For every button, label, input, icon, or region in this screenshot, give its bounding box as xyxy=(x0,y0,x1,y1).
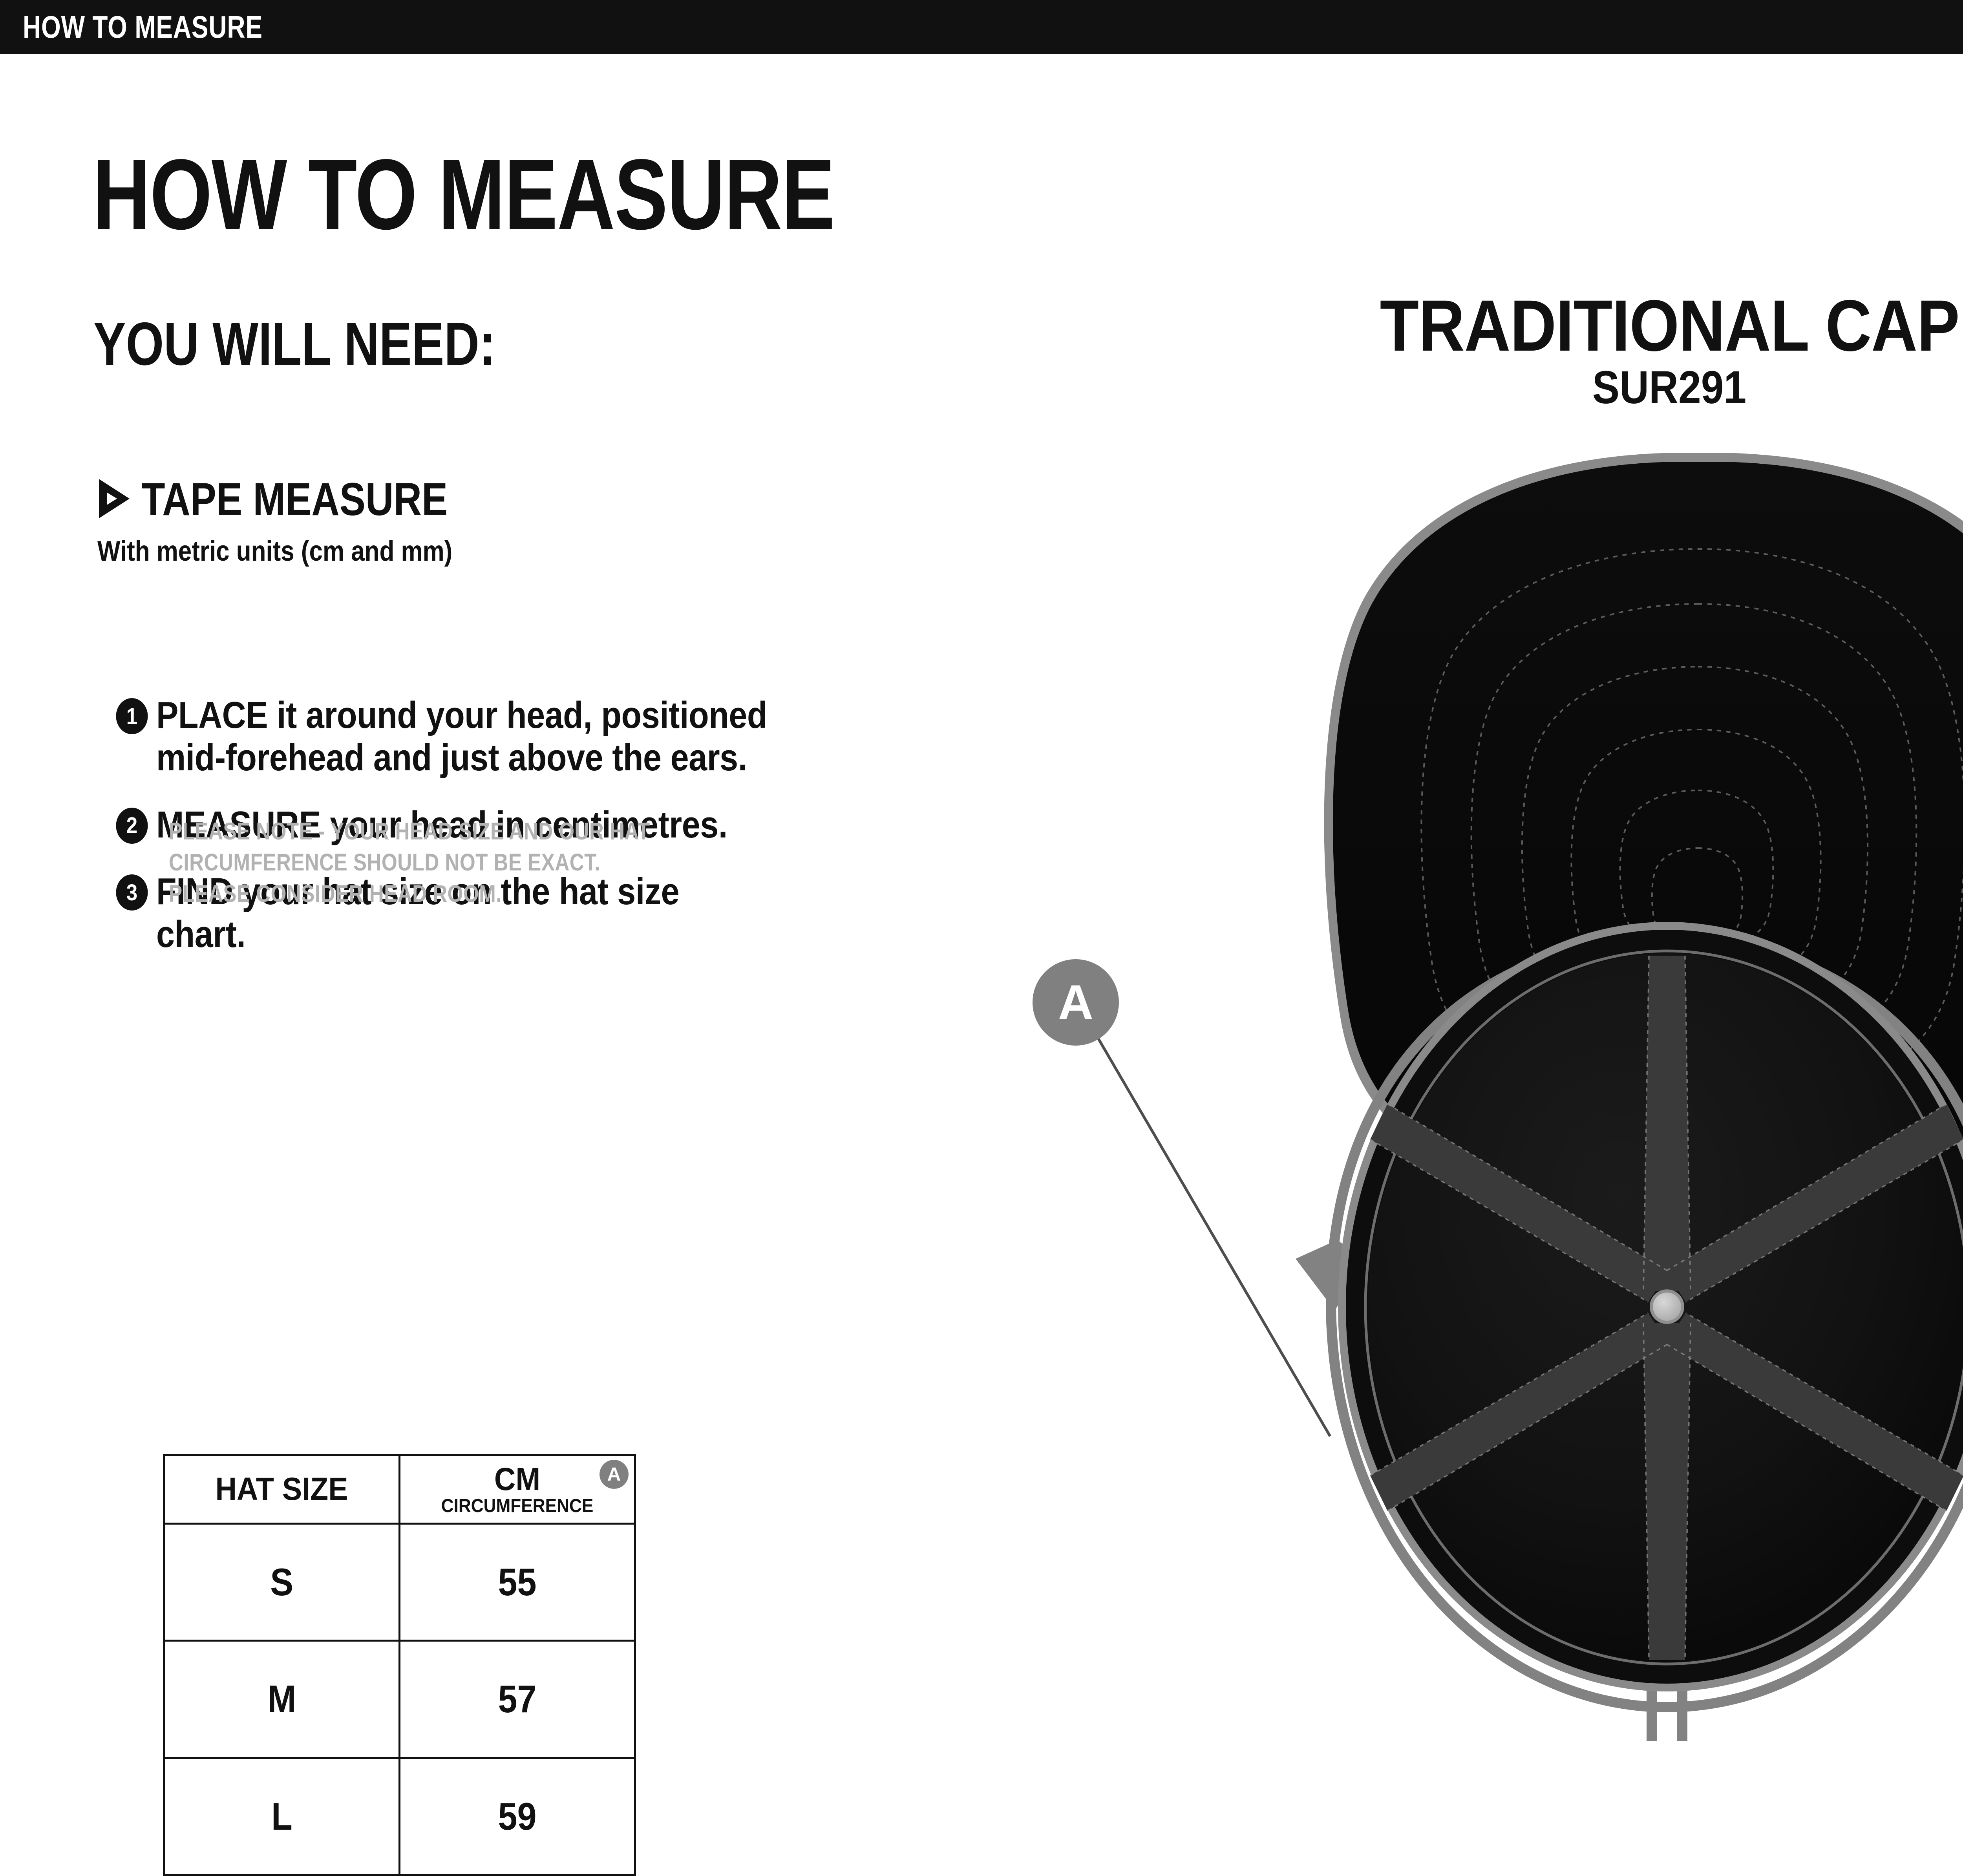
table-header-circumference-label: CIRCUMFERENCE xyxy=(410,1496,625,1516)
step-number-badge: 2 xyxy=(116,808,148,844)
page-title: HOW TO MEASURE xyxy=(93,144,834,245)
table-header-cm-circumference: CM CIRCUMFERENCE A xyxy=(400,1455,635,1524)
product-name-text: TRADITIONAL CAP xyxy=(1380,290,1959,362)
step-text: PLACE it around your head, positioned mi… xyxy=(156,694,771,779)
tape-measure-sublabel: With metric units (cm and mm) xyxy=(97,537,452,565)
table-row: S 55 xyxy=(164,1524,635,1641)
callout-badge-a-icon: A xyxy=(600,1460,629,1489)
table-header-hat-size: HAT SIZE xyxy=(164,1455,400,1524)
cap-illustration-icon: A xyxy=(1021,431,1963,1829)
table-cell-size-value: M xyxy=(267,1677,296,1721)
product-name: TRADITIONAL CAP xyxy=(1021,290,1963,362)
you-will-need-heading: YOU WILL NEED: xyxy=(93,313,495,374)
table-cell-size: M xyxy=(164,1641,400,1758)
step-item: 1 PLACE it around your head, positioned … xyxy=(114,694,860,779)
callout-leader-line xyxy=(1088,1020,1330,1436)
crown-button-icon xyxy=(1653,1293,1681,1321)
table-cell-size-value: L xyxy=(271,1794,292,1839)
callout-badge-a-label: A xyxy=(1058,975,1093,1030)
cap-diagram: A xyxy=(1021,431,1963,1829)
top-bar-title: HOW TO MEASURE xyxy=(23,9,263,45)
table-row: L 59 xyxy=(164,1758,635,1875)
table-cell-size: S xyxy=(164,1524,400,1641)
table-cell-cm: 57 xyxy=(400,1641,635,1758)
callout-a-group: A xyxy=(1033,959,1330,1436)
product-code-text: SUR291 xyxy=(1592,364,1746,411)
hat-size-table: HAT SIZE CM CIRCUMFERENCE A S 55 M 57 L … xyxy=(163,1454,636,1876)
top-bar: HOW TO MEASURE SURRIDGE xyxy=(0,0,1963,54)
table-row: M 57 xyxy=(164,1641,635,1758)
table-header-cm-label: CM xyxy=(410,1463,625,1496)
table-cell-cm-value: 59 xyxy=(498,1794,536,1839)
right-column: TRADITIONAL CAP SUR291 xyxy=(1021,54,1963,1830)
triangle-right-outline-icon xyxy=(97,478,131,521)
table-cell-cm: 55 xyxy=(400,1524,635,1641)
table-cell-cm-value: 55 xyxy=(498,1560,536,1604)
table-cell-size-value: S xyxy=(270,1560,293,1604)
table-cell-cm: 59 xyxy=(400,1758,635,1875)
please-note-text: PLEASE NOTE - YOUR HEAD SIZE AND OUR HAT… xyxy=(169,816,650,909)
table-cell-size: L xyxy=(164,1758,400,1875)
table-cell-cm-value: 57 xyxy=(498,1677,536,1721)
product-code: SUR291 xyxy=(1021,364,1963,411)
left-column: HOW TO MEASURE YOU WILL NEED: TAPE MEASU… xyxy=(0,54,1021,1830)
step-number-badge: 1 xyxy=(116,698,148,734)
step-number-badge: 3 xyxy=(116,874,148,911)
table-header-row: HAT SIZE CM CIRCUMFERENCE A xyxy=(164,1455,635,1524)
tape-measure-label: TAPE MEASURE xyxy=(141,476,448,523)
table-header-hat-size-label: HAT SIZE xyxy=(174,1472,389,1506)
tape-measure-item: TAPE MEASURE xyxy=(97,476,506,523)
